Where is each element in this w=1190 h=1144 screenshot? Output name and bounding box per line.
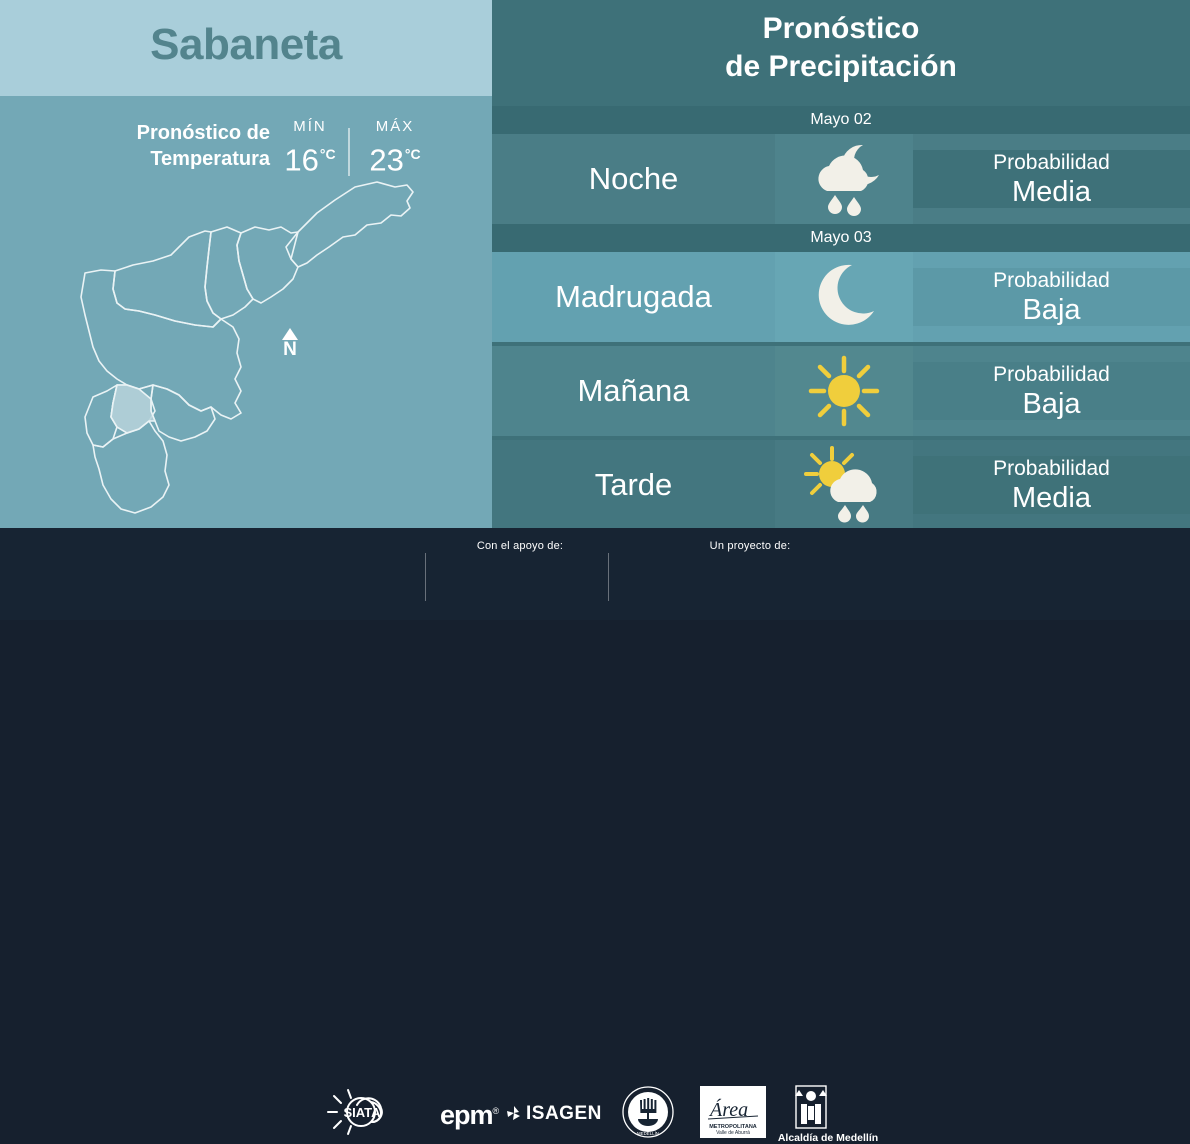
temperature-heading-line2: Temperatura [90, 146, 270, 172]
forecast-probability: Probabilidad Baja [913, 268, 1190, 326]
date-divider-mayo-02: Mayo 02 [492, 106, 1190, 134]
moon-icon-svg [806, 261, 882, 333]
sun-cloud-rain-icon [775, 440, 913, 530]
forecast-title-line2: de Precipitación [492, 48, 1190, 86]
compass-north-label: N [275, 340, 305, 360]
date-divider-mayo-03: Mayo 03 [492, 224, 1190, 252]
alcaldia-label: Alcaldía de Medellín [768, 1132, 888, 1144]
city-title: Sabaneta [0, 20, 492, 70]
probability-label: Probabilidad [913, 362, 1190, 388]
support-caption: Con el apoyo de: [430, 540, 610, 552]
probability-label: Probabilidad [913, 150, 1190, 176]
footer-divider [425, 553, 426, 601]
probability-value: Baja [913, 294, 1190, 326]
temperature-max-value: 23°C [352, 137, 438, 177]
valle-de-aburra-map [55, 175, 455, 520]
isagen-logo: ISAGEN [505, 1103, 602, 1125]
temperature-min-value: 16°C [270, 137, 350, 177]
map-svg [55, 175, 455, 520]
probability-value: Baja [913, 388, 1190, 420]
temperature-heading-line1: Pronóstico de [90, 120, 270, 146]
alcaldia-crest-svg [790, 1084, 832, 1132]
map-highlight-sabaneta [111, 385, 155, 433]
footer: Con el apoyo de: Un proyecto de: SIATA [0, 528, 1190, 620]
area-metropolitana-svg: Área METROPOLITANA Valle de Aburrá [700, 1086, 766, 1138]
forecast-row-tarde: Tarde Probabilidad [492, 440, 1190, 530]
temperature-min-unit: °C [320, 146, 336, 162]
siata-logo: SIATA [326, 1086, 421, 1143]
forecast-period-label: Madrugada [492, 279, 775, 315]
forecast-row-noche: Noche Probabilidad Media [492, 134, 1190, 224]
probability-label: Probabilidad [913, 456, 1190, 482]
weather-infographic: Sabaneta Pronóstico de Temperatura MÍN 1… [0, 0, 1190, 620]
probability-label: Probabilidad [913, 268, 1190, 294]
forecast-title-line1: Pronóstico [492, 10, 1190, 48]
temperature-divider [348, 128, 350, 176]
moon-icon [775, 252, 913, 342]
forecast-probability: Probabilidad Baja [913, 362, 1190, 420]
temperature-heading: Pronóstico de Temperatura [90, 120, 270, 172]
area-logo-line2: Valle de Aburrá [716, 1130, 750, 1136]
epm-registered-mark: ® [493, 1106, 499, 1116]
project-caption: Un proyecto de: [660, 540, 840, 552]
medellin-seal-text: MEDELLÍN [637, 1131, 659, 1136]
left-panel: Sabaneta Pronóstico de Temperatura MÍN 1… [0, 0, 492, 528]
siata-logo-svg: SIATA [326, 1086, 421, 1138]
isagen-mark-icon [505, 1105, 523, 1121]
forecast-period-label: Mañana [492, 373, 775, 409]
temperature-min-label: MÍN [270, 118, 350, 135]
forecast-title: Pronóstico de Precipitación [492, 10, 1190, 86]
compass-rose: N [275, 328, 305, 360]
area-metropolitana-logo: Área METROPOLITANA Valle de Aburrá [700, 1086, 766, 1143]
medellin-seal-logo: MEDELLÍN [622, 1086, 674, 1143]
epm-logo-text: epm [440, 1100, 493, 1130]
medellin-seal-svg: MEDELLÍN [622, 1086, 674, 1138]
epm-logo: epm® [440, 1100, 498, 1131]
sun-icon-svg [806, 354, 882, 428]
forecast-panel: Pronóstico de Precipitación Mayo 02 Noch… [492, 0, 1190, 528]
forecast-row-manana: Mañana Probabili [492, 346, 1190, 436]
forecast-period-label: Tarde [492, 467, 775, 503]
footer-divider [608, 553, 609, 601]
moon-cloud-rain-icon-svg [801, 141, 887, 217]
temperature-max: MÁX 23°C [352, 118, 438, 177]
isagen-logo-text: ISAGEN [526, 1103, 602, 1124]
forecast-probability: Probabilidad Media [913, 456, 1190, 514]
temperature-min: MÍN 16°C [270, 118, 350, 177]
alcaldia-crest-logo [790, 1084, 832, 1137]
moon-cloud-rain-icon [775, 134, 913, 224]
sun-cloud-rain-icon-svg [800, 446, 888, 524]
probability-value: Media [913, 482, 1190, 514]
probability-value: Media [913, 176, 1190, 208]
forecast-probability: Probabilidad Media [913, 150, 1190, 208]
forecast-period-label: Noche [492, 161, 775, 197]
temperature-max-unit: °C [405, 146, 421, 162]
forecast-row-madrugada: Madrugada Probabilidad Baja [492, 252, 1190, 342]
temperature-max-label: MÁX [352, 118, 438, 135]
sun-icon [775, 346, 913, 436]
siata-logo-text: SIATA [343, 1105, 381, 1120]
